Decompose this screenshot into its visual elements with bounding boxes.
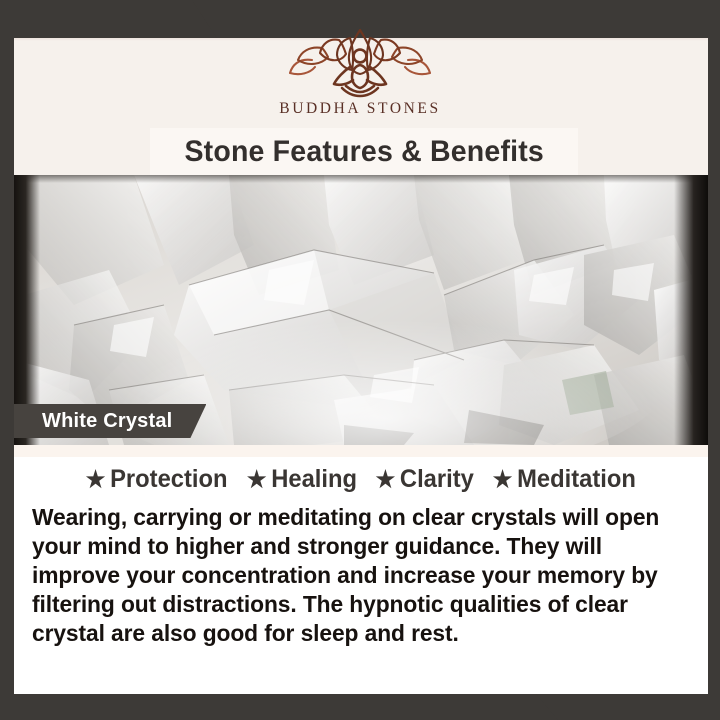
description-text: Wearing, carrying or meditating on clear… [32,503,672,648]
frame-band-bottom [0,694,720,720]
photo-top-shade [14,175,708,183]
description-panel: ★ Protection ★ Healing ★ Clarity ★ Medit… [14,445,708,694]
star-icon: ★ [86,468,106,491]
lotus-meditation-icon [282,26,438,98]
brand-name: BUDDHA STONES [279,100,440,118]
photo-right-shade [674,175,708,445]
page-title: Stone Features & Benefits [184,135,544,169]
panel-top-tint [14,445,708,457]
star-icon: ★ [247,468,267,491]
stone-name-label: White Crystal [42,410,172,433]
title-banner: Stone Features & Benefits [150,128,578,175]
benefit-label: Healing [271,465,357,494]
frame-band-left [0,40,14,720]
benefit-item-healing: ★ Healing [247,465,357,494]
brand-logo: BUDDHA STONES [0,26,720,124]
benefit-label: Meditation [518,465,637,494]
benefits-row: ★ Protection ★ Healing ★ Clarity ★ Medit… [14,465,708,494]
star-icon: ★ [376,468,396,491]
star-icon: ★ [493,468,513,491]
benefit-item-meditation: ★ Meditation [493,465,636,494]
benefit-label: Protection [110,465,227,494]
benefit-item-protection: ★ Protection [86,465,228,494]
benefit-item-clarity: ★ Clarity [376,465,474,494]
infographic-card: BUDDHA STONES Stone Features & Benefits [0,0,720,720]
stone-name-tag: White Crystal [14,404,206,438]
benefit-label: Clarity [400,465,474,494]
